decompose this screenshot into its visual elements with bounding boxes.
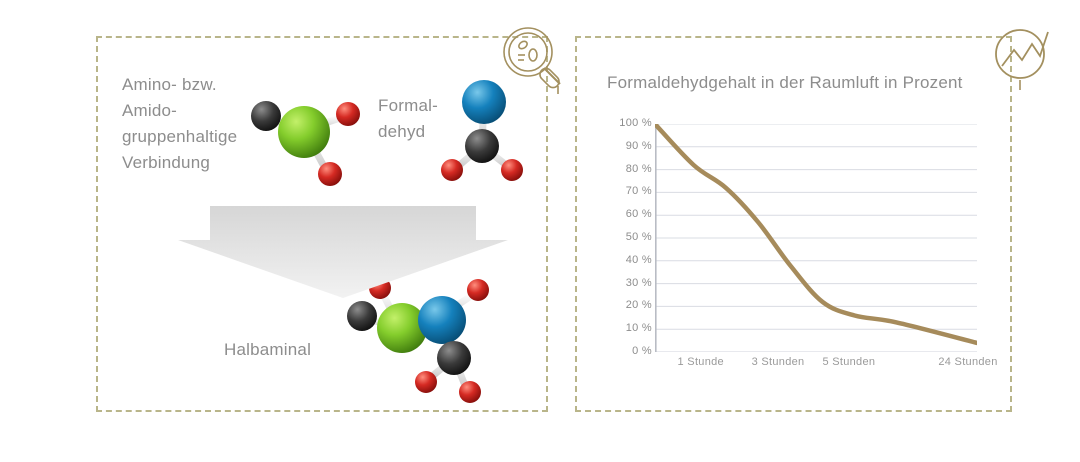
y-axis-tick-label: 70 % xyxy=(606,185,652,197)
magnifier-molecule-icon xyxy=(498,22,572,96)
y-axis-tick-label: 60 % xyxy=(606,208,652,220)
formaldehyde-decay-line xyxy=(655,124,977,343)
y-axis-tick-label: 30 % xyxy=(606,277,652,289)
chart-title: Formaldehydgehalt in der Raumluft in Pro… xyxy=(607,73,963,93)
y-axis-tick-label: 50 % xyxy=(606,231,652,243)
y-axis-tick-label: 0 % xyxy=(606,345,652,357)
y-axis-tick-label: 20 % xyxy=(606,299,652,311)
x-axis-tick-label: 24 Stunden xyxy=(938,356,997,368)
chart-area: 100 %90 %80 %70 %60 %50 %40 %30 %20 %10 … xyxy=(600,124,990,379)
y-axis-tick-label: 80 % xyxy=(606,163,652,175)
y-axis-tick-label: 90 % xyxy=(606,140,652,152)
chart-line-series xyxy=(655,124,977,352)
reaction-arrow-icon xyxy=(178,206,508,298)
chart-gridlines xyxy=(655,124,977,352)
amino-compound-molecule xyxy=(238,82,378,194)
y-axis-tick-label: 40 % xyxy=(606,254,652,266)
x-axis-tick-label: 1 Stunde xyxy=(678,356,724,368)
trend-chart-circle-icon xyxy=(988,22,1062,96)
y-axis-tick-label: 100 % xyxy=(606,117,652,129)
x-axis-tick-label: 5 Stunden xyxy=(822,356,875,368)
chart-plot: 1 Stunde3 Stunden5 Stunden24 Stunden xyxy=(655,124,977,352)
y-axis-tick-label: 10 % xyxy=(606,322,652,334)
x-axis-tick-label: 3 Stunden xyxy=(752,356,805,368)
y-axis-tick-labels: 100 %90 %80 %70 %60 %50 %40 %30 %20 %10 … xyxy=(600,124,652,352)
